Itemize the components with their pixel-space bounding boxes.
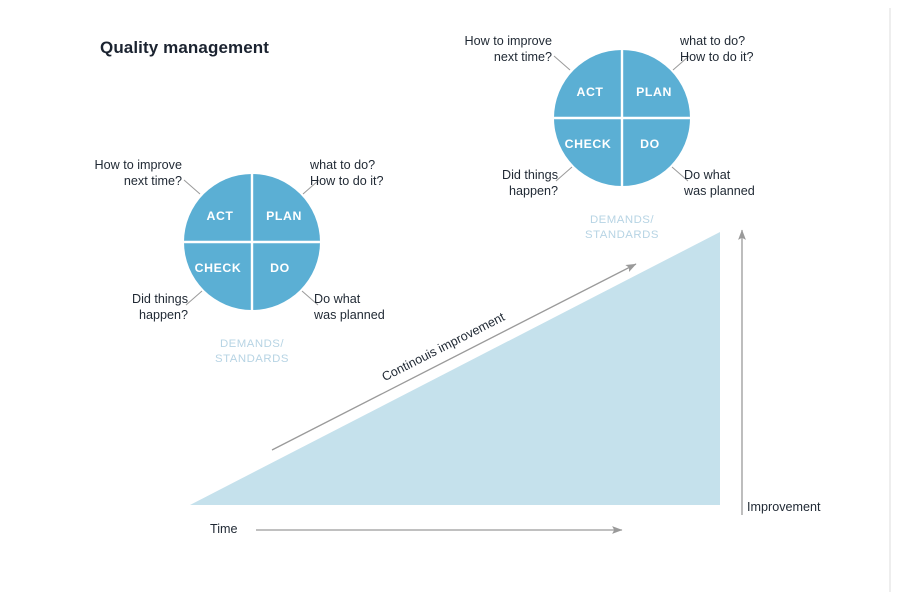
demands-standards-label: DEMANDS/ STANDARDS	[585, 213, 659, 244]
callout-plan: what to do? How to do it?	[680, 34, 840, 66]
leader-line-act	[184, 180, 200, 194]
pdca-circle-lower-left	[182, 172, 322, 312]
improvement-axis-label: Improvement	[747, 500, 821, 514]
wedge-label-act: ACT	[576, 85, 603, 99]
callout-check: Did things happen?	[438, 168, 558, 200]
leader-line-act	[554, 56, 570, 70]
pdca-circle-upper-right	[552, 48, 692, 188]
time-axis-label: Time	[210, 522, 238, 536]
demands-standards-label: DEMANDS/ STANDARDS	[215, 337, 289, 368]
callout-act: How to improve next time?	[432, 34, 552, 66]
leader-line-check	[556, 167, 572, 181]
quality-management-diagram: Quality management ACT PLAN CHECK DO How…	[0, 0, 900, 600]
wedge-label-do: DO	[640, 137, 660, 151]
wedge-label-plan: PLAN	[636, 85, 672, 99]
callout-do: Do what was planned	[314, 292, 474, 324]
page-title: Quality management	[100, 38, 269, 58]
wedge-label-plan: PLAN	[266, 209, 302, 223]
wedge-label-do: DO	[270, 261, 290, 275]
wedge-label-check: CHECK	[565, 137, 612, 151]
wedge-label-act: ACT	[206, 209, 233, 223]
callout-check: Did things happen?	[68, 292, 188, 324]
callout-do: Do what was planned	[684, 168, 844, 200]
callout-act: How to improve next time?	[62, 158, 182, 190]
leader-line-check	[186, 291, 202, 305]
wedge-label-check: CHECK	[195, 261, 242, 275]
